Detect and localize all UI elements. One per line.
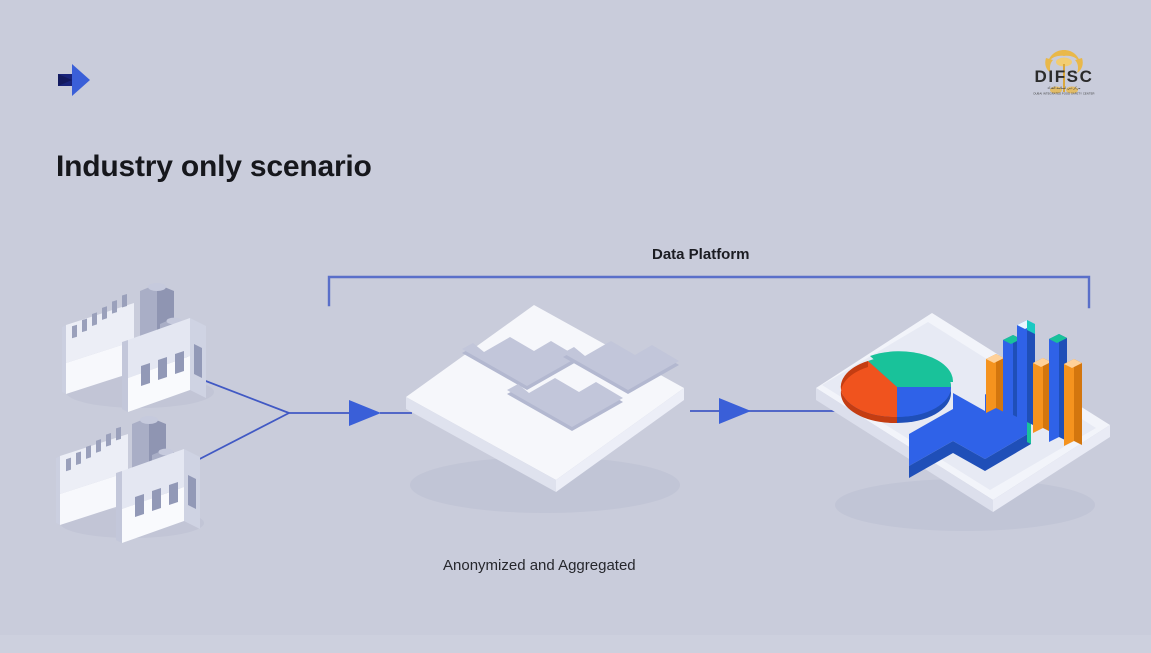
- data-platform-label: Data Platform: [652, 246, 750, 263]
- factory-icon: [56, 416, 204, 543]
- logo-tagline-ar: مركز دبي لسلامة الغذاء: [1048, 86, 1081, 90]
- data-platform-bracket: [329, 277, 1089, 307]
- flow-arrow-2-icon: [719, 398, 751, 424]
- diagram-caption: Anonymized and Aggregated: [443, 557, 636, 574]
- dashboard-icon: [816, 313, 1110, 531]
- difsc-logo: DIFSC مركز دبي لسلامة الغذاء DUBAI INTEG…: [1018, 44, 1110, 100]
- arrow-right-icon: [54, 62, 94, 98]
- factory-top[interactable]: [0, 0, 1151, 653]
- slide-canvas: DIFSC مركز دبي لسلامة الغذاء DUBAI INTEG…: [0, 0, 1151, 653]
- factory-icon: [62, 283, 214, 412]
- logo-wordmark: DIFSC: [1035, 67, 1094, 86]
- logo-tagline-en: DUBAI INTEGRATED FOOD SAFETY CENTER: [1033, 92, 1094, 96]
- database-slab-icon: [406, 305, 684, 513]
- bottom-strip: [0, 635, 1151, 653]
- page-title: Industry only scenario: [56, 150, 372, 184]
- flow-arrow-1-icon: [349, 400, 381, 426]
